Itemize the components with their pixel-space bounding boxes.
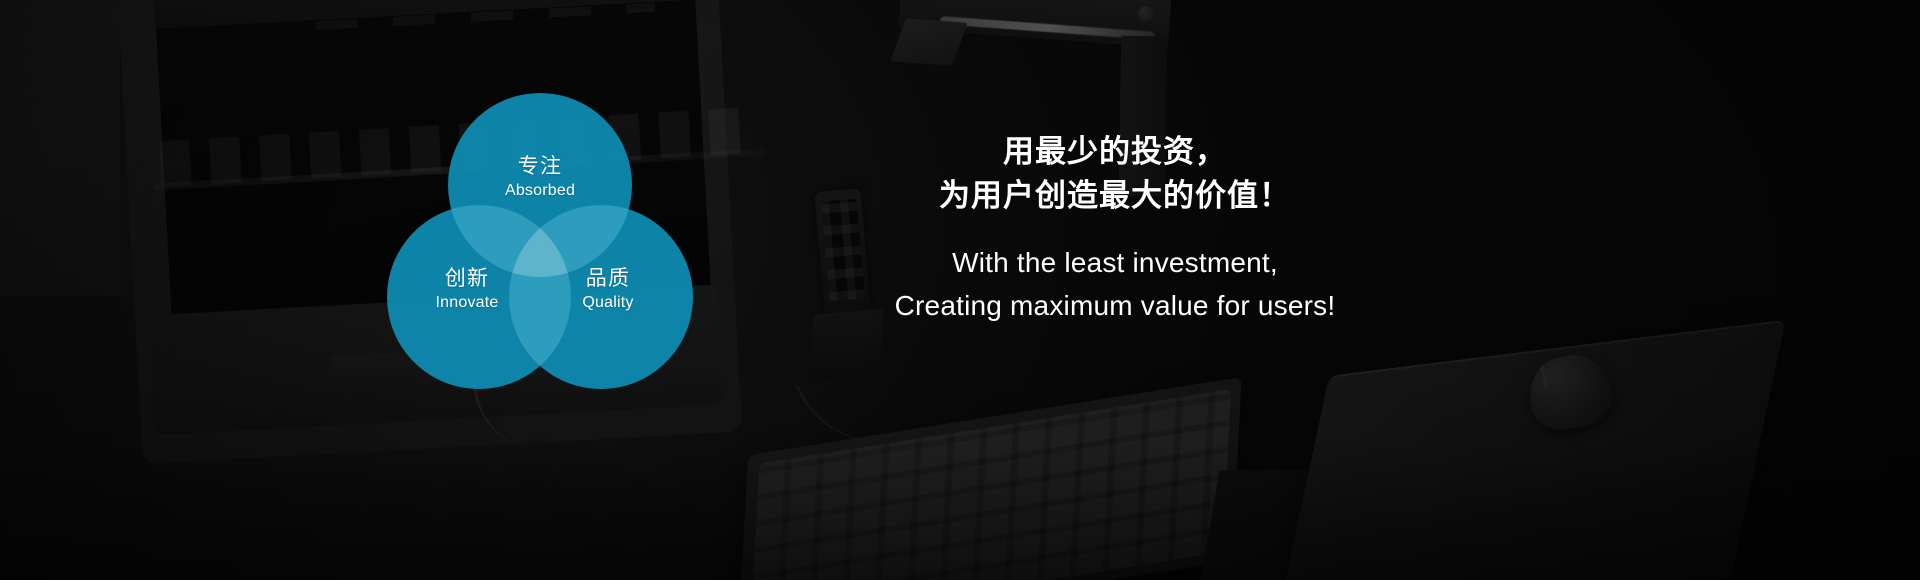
slogan-english-line-1: With the least investment, <box>810 242 1420 285</box>
hero-banner: 专注 Absorbed 创新 Innovate 品质 Quality 用最少的投… <box>0 0 1920 580</box>
slogan-english-line-2: Creating maximum value for users! <box>810 285 1420 328</box>
venn-diagram: 专注 Absorbed 创新 Innovate 品质 Quality <box>387 93 693 389</box>
slogan-chinese-line-2: 为用户创造最大的价值！ <box>810 174 1420 218</box>
slogan-english: With the least investment, Creating maxi… <box>810 242 1420 327</box>
slogan-block: 用最少的投资， 为用户创造最大的价值！ With the least inves… <box>810 130 1420 327</box>
slogan-chinese: 用最少的投资， 为用户创造最大的价值！ <box>810 130 1420 218</box>
slogan-chinese-line-1: 用最少的投资， <box>810 130 1420 174</box>
